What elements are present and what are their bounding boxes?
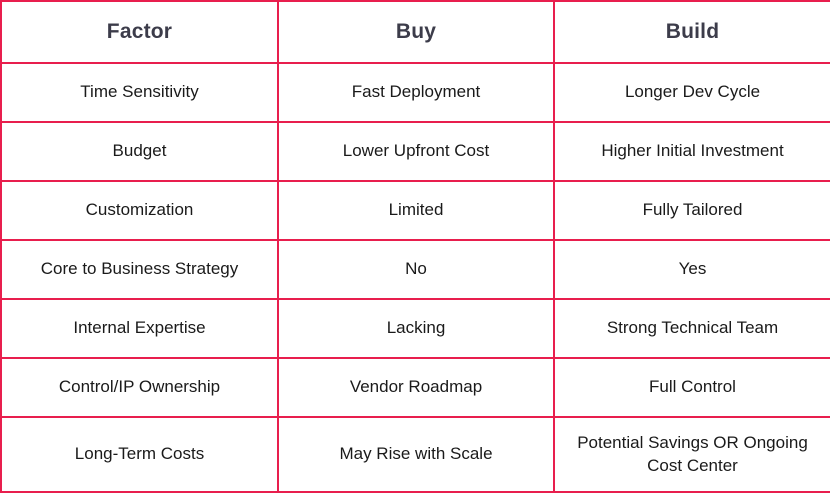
cell-factor: Internal Expertise <box>1 299 278 358</box>
table-row: Internal Expertise Lacking Strong Techni… <box>1 299 830 358</box>
table-row: Customization Limited Fully Tailored <box>1 181 830 240</box>
cell-buy: Lower Upfront Cost <box>278 122 554 181</box>
cell-factor: Budget <box>1 122 278 181</box>
cell-factor: Control/IP Ownership <box>1 358 278 417</box>
cell-build: Potential Savings OR Ongoing Cost Center <box>554 417 830 492</box>
table-row: Control/IP Ownership Vendor Roadmap Full… <box>1 358 830 417</box>
buy-vs-build-comparison-table: Factor Buy Build Time Sensitivity Fast D… <box>0 0 830 493</box>
table-body: Time Sensitivity Fast Deployment Longer … <box>1 63 830 492</box>
cell-buy: Fast Deployment <box>278 63 554 122</box>
cell-buy: Limited <box>278 181 554 240</box>
table-row: Time Sensitivity Fast Deployment Longer … <box>1 63 830 122</box>
table-row: Core to Business Strategy No Yes <box>1 240 830 299</box>
column-header-buy: Buy <box>278 1 554 63</box>
cell-build: Longer Dev Cycle <box>554 63 830 122</box>
table-header-row: Factor Buy Build <box>1 1 830 63</box>
cell-buy: No <box>278 240 554 299</box>
cell-build: Yes <box>554 240 830 299</box>
cell-build: Strong Technical Team <box>554 299 830 358</box>
table-header: Factor Buy Build <box>1 1 830 63</box>
cell-factor: Core to Business Strategy <box>1 240 278 299</box>
table-row: Budget Lower Upfront Cost Higher Initial… <box>1 122 830 181</box>
table-row: Long-Term Costs May Rise with Scale Pote… <box>1 417 830 492</box>
cell-build: Higher Initial Investment <box>554 122 830 181</box>
cell-buy: Vendor Roadmap <box>278 358 554 417</box>
cell-buy: Lacking <box>278 299 554 358</box>
column-header-build: Build <box>554 1 830 63</box>
cell-build: Full Control <box>554 358 830 417</box>
column-header-factor: Factor <box>1 1 278 63</box>
cell-buy: May Rise with Scale <box>278 417 554 492</box>
cell-build: Fully Tailored <box>554 181 830 240</box>
cell-factor: Long-Term Costs <box>1 417 278 492</box>
cell-factor: Customization <box>1 181 278 240</box>
cell-factor: Time Sensitivity <box>1 63 278 122</box>
